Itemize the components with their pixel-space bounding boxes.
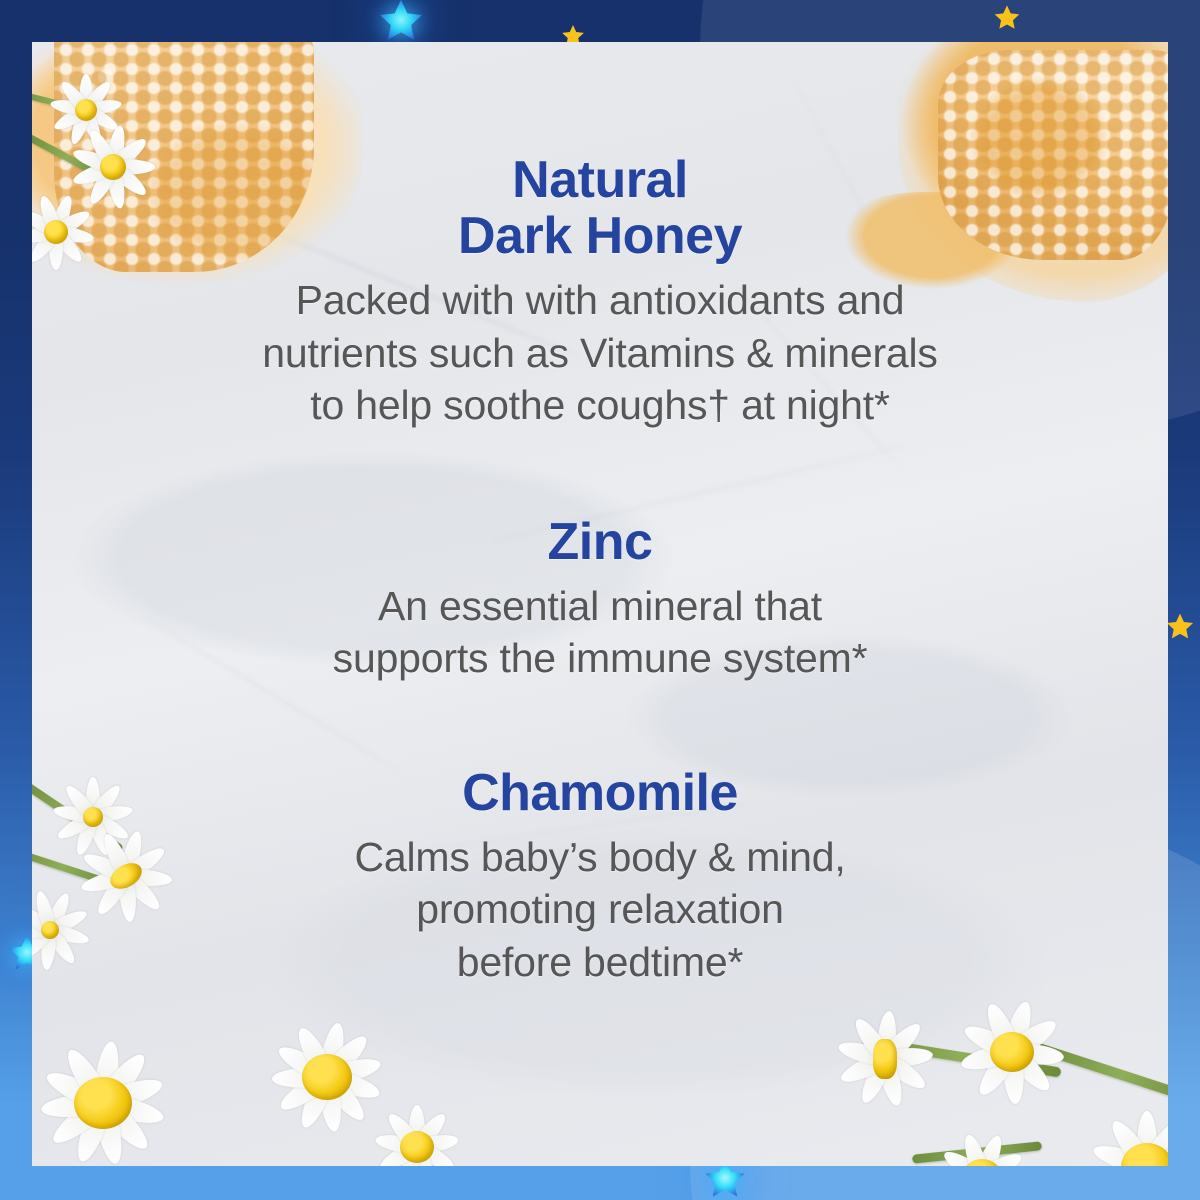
section-zinc: Zinc An essential mineral that supports …: [70, 514, 1130, 685]
heading-line-2: Dark Honey: [458, 207, 742, 265]
body-natural-dark-honey: Packed with with antioxidants and nutrie…: [70, 274, 1130, 431]
heading-zinc: Zinc: [70, 514, 1130, 570]
heading-chamomile: Chamomile: [70, 765, 1130, 821]
section-chamomile: Chamomile Calms baby’s body & mind, prom…: [70, 765, 1130, 989]
heading-natural-dark-honey: Natural Dark Honey: [70, 152, 1130, 264]
section-natural-dark-honey: Natural Dark Honey Packed with with anti…: [70, 152, 1130, 432]
body-zinc: An essential mineral that supports the i…: [70, 580, 1130, 685]
heading-line-1: Natural: [512, 151, 688, 209]
body-chamomile: Calms baby’s body & mind, promoting rela…: [70, 831, 1130, 988]
poster-root: Natural Dark Honey Packed with with anti…: [0, 0, 1200, 1200]
content-stack: Natural Dark Honey Packed with with anti…: [0, 0, 1200, 1200]
